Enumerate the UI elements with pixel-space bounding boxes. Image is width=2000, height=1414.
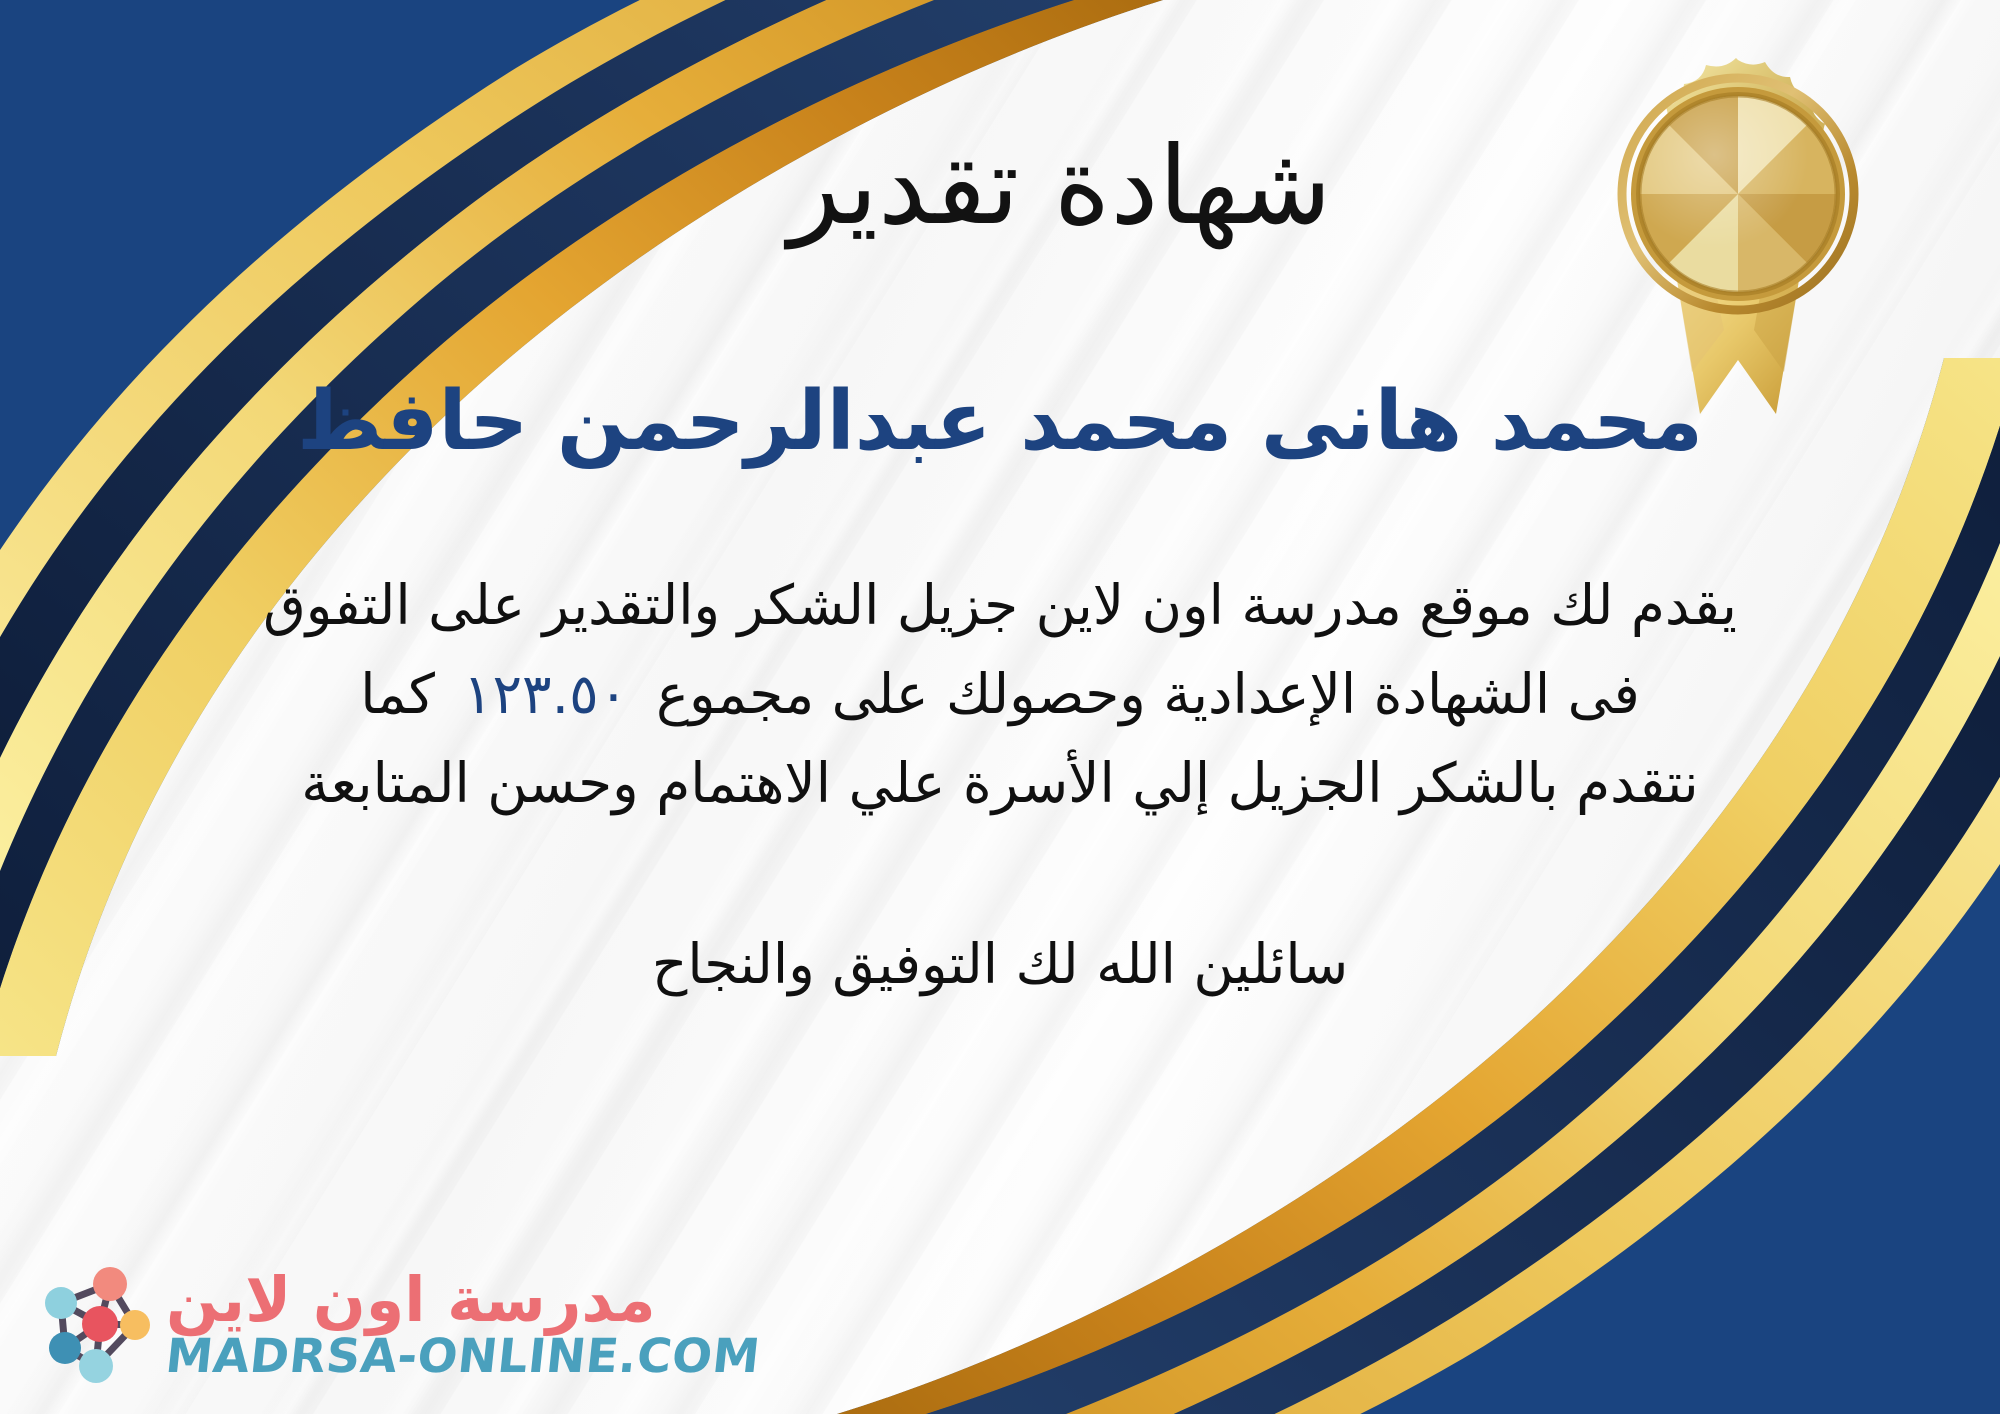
certificate-canvas: شهادة تقدير محمد هانى محمد عبدالرحمن حاف… (0, 0, 2000, 1414)
score-value: ١٢٣.٥٠ (435, 662, 656, 726)
site-logo[interactable]: مدرسة اون لاين MADRSA-ONLINE.COM (34, 1262, 760, 1386)
recipient-name: محمد هانى محمد عبدالرحمن حافظ (0, 375, 2000, 469)
certificate-body-text: يقدم لك موقع مدرسة اون لاين جزيل الشكر و… (60, 561, 1940, 828)
body-line-2: فى الشهادة الإعدادية وحصولك على مجموع١٢٣… (60, 650, 1940, 739)
body-line-2-suffix: كما (360, 662, 435, 726)
body-line-1: يقدم لك موقع مدرسة اون لاين جزيل الشكر و… (60, 561, 1940, 650)
logo-website-url: MADRSA-ONLINE.COM (163, 1332, 762, 1381)
body-line-2-prefix: فى الشهادة الإعدادية وحصولك على مجموع (656, 662, 1640, 726)
certificate-content: شهادة تقدير محمد هانى محمد عبدالرحمن حاف… (0, 0, 2000, 1414)
body-line-3: نتقدم بالشكر الجزيل إلي الأسرة علي الاهت… (60, 739, 1940, 828)
logo-text-block: مدرسة اون لاين MADRSA-ONLINE.COM (166, 1267, 760, 1381)
page-title: شهادة تقدير (0, 128, 2000, 247)
closing-line: سائلين الله لك التوفيق والنجاح (60, 932, 1940, 996)
network-nodes-icon (34, 1262, 152, 1386)
logo-arabic-name: مدرسة اون لاين (166, 1267, 656, 1332)
